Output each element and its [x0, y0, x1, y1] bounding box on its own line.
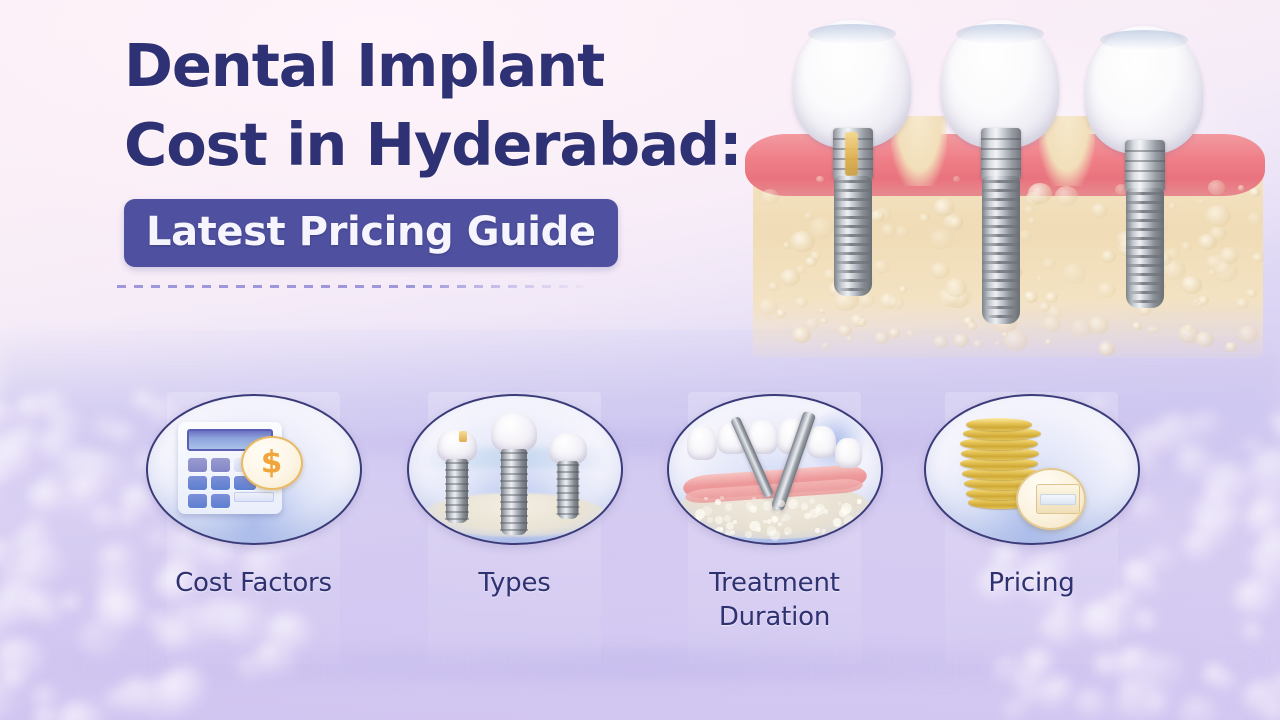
- latest-pricing-guide-badge[interactable]: Latest Pricing Guide: [124, 199, 618, 267]
- icon-bone-pore: [770, 531, 773, 534]
- feature-card-types[interactable]: Types: [428, 392, 601, 664]
- feature-label-types: Types: [428, 567, 601, 601]
- coin-card-face: [1036, 484, 1080, 514]
- icon-bone-pore: [725, 503, 732, 510]
- bone-bubble: [1146, 694, 1169, 713]
- bone-pore: [930, 262, 950, 279]
- icon-bone-pore: [724, 515, 731, 522]
- bone-pore: [949, 217, 963, 229]
- bone-pore: [1070, 319, 1092, 338]
- label-line-2: Duration: [719, 602, 830, 632]
- icon-bone-pore: [750, 521, 761, 532]
- calculator-total-bar: [234, 492, 274, 502]
- bone-bubble: [0, 697, 5, 720]
- dental-tool-teeth-icon: [669, 396, 881, 543]
- bone-pore: [1028, 183, 1052, 203]
- icon-bone-pore: [781, 518, 784, 521]
- bone-pore: [819, 308, 826, 314]
- icon-bone-pore: [809, 498, 815, 504]
- bone-pore: [816, 176, 824, 183]
- dashed-divider: [117, 285, 595, 288]
- mini-gold-inlay: [459, 431, 467, 442]
- bone-pore: [1205, 256, 1220, 269]
- bone-bubble: [31, 685, 60, 709]
- feature-label-treatment-duration: Treatment Duration: [688, 567, 861, 634]
- implant-types-icon: [409, 396, 621, 543]
- feature-label-pricing: Pricing: [945, 567, 1118, 601]
- bone-pore: [953, 334, 968, 347]
- mini-screw: [446, 459, 468, 523]
- calculator-key: [188, 494, 207, 508]
- implant-screw: [1126, 188, 1164, 308]
- bone-bubble: [1118, 681, 1140, 699]
- headline-line-1: Dental Implant: [124, 31, 604, 100]
- bone-bubble: [55, 701, 108, 720]
- bone-pore: [1045, 292, 1058, 303]
- dollar-coin-icon: $: [241, 436, 303, 490]
- bone-pore: [1198, 199, 1204, 204]
- icon-bone-pore: [838, 530, 846, 538]
- bone-pore: [783, 242, 790, 248]
- feature-card-cost-factors[interactable]: $ Cost Factors: [167, 392, 340, 664]
- bone-pore: [1055, 186, 1078, 206]
- bone-pore: [1198, 234, 1217, 250]
- bone-bubble: [33, 707, 60, 720]
- icon-bone-pore: [707, 517, 713, 523]
- bone-pore: [776, 309, 787, 318]
- page-title: Dental Implant Cost in Hyderabad:: [124, 26, 764, 184]
- icon-bone-pore: [848, 533, 853, 538]
- gold-coin: [966, 418, 1032, 431]
- bone-pore: [804, 212, 813, 220]
- icon-bone-pore: [788, 499, 798, 509]
- bone-pore: [870, 210, 884, 222]
- bone-pore: [768, 282, 778, 291]
- bone-pore: [1249, 188, 1260, 197]
- bone-pore: [895, 226, 910, 238]
- bone-pore: [1238, 185, 1245, 191]
- calculator-key: [211, 494, 230, 508]
- icon-tooth: [807, 426, 836, 458]
- icon-bone-pore: [801, 503, 808, 510]
- bone-bubble: [102, 687, 135, 714]
- gold-coins-icon: [960, 418, 1046, 518]
- icon-bone-pore: [858, 513, 863, 518]
- bone-pore: [1198, 296, 1208, 305]
- bone-pore: [1039, 302, 1050, 311]
- bone-pore: [805, 257, 816, 267]
- icon-bone-pore: [844, 515, 855, 526]
- cost-factors-icon-circle[interactable]: $: [146, 394, 362, 545]
- bone-pore: [1045, 339, 1051, 345]
- feature-card-treatment-duration[interactable]: Treatment Duration: [688, 392, 861, 664]
- icon-bone-pore: [809, 509, 818, 518]
- bone-pore: [945, 278, 967, 297]
- feature-row: $ Cost Factors Types: [0, 392, 1280, 682]
- calculator-key: [188, 458, 207, 472]
- treatment-duration-icon-circle[interactable]: [667, 394, 883, 545]
- bone-pore: [1246, 289, 1257, 298]
- bone-bubble: [0, 680, 24, 718]
- badge-label: Latest Pricing Guide: [146, 209, 596, 255]
- mini-screw: [557, 461, 578, 519]
- implant-screw: [834, 176, 872, 296]
- mini-screw: [501, 449, 527, 535]
- icon-bone-pore: [715, 516, 723, 524]
- icon-bone-pore: [763, 501, 772, 510]
- bone-pore: [1181, 276, 1201, 293]
- bone-pore: [1236, 298, 1249, 309]
- icon-bone-pore: [712, 529, 718, 535]
- bone-pore: [1225, 342, 1236, 352]
- bone-pore: [1036, 276, 1043, 282]
- bone-pore: [809, 218, 834, 239]
- calculator-key: [188, 476, 207, 490]
- bone-pore: [994, 341, 1000, 346]
- pricing-icon-circle[interactable]: [924, 394, 1140, 545]
- bone-bubble: [1119, 677, 1172, 720]
- mini-crown: [491, 413, 537, 453]
- label-line-1: Treatment: [709, 568, 840, 598]
- icon-tooth: [687, 426, 717, 460]
- implant-screw: [982, 176, 1020, 324]
- bone-pore: [953, 176, 960, 182]
- icon-bone-pore: [857, 499, 862, 504]
- bone-pore: [1195, 332, 1213, 348]
- bone-bubble: [1002, 699, 1029, 720]
- bone-pore: [761, 189, 780, 205]
- bone-pore: [1028, 217, 1037, 224]
- bone-bubble: [1242, 680, 1280, 715]
- bone-pore: [1220, 247, 1239, 264]
- bone-pore: [1101, 250, 1116, 263]
- feature-label-cost-factors: Cost Factors: [167, 567, 340, 601]
- bone-bubble: [1179, 695, 1222, 720]
- gold-abutment-post: [845, 132, 858, 176]
- dollar-symbol: $: [243, 444, 301, 480]
- coin-card-icon: [1016, 468, 1086, 530]
- bone-pore: [1205, 205, 1231, 227]
- headline-line-2: Cost in Hyderabad:: [124, 105, 764, 184]
- bone-pore: [820, 318, 828, 325]
- bone-pore: [1247, 212, 1263, 226]
- bone-pore: [933, 336, 948, 348]
- types-icon-circle[interactable]: [407, 394, 623, 545]
- bone-pore: [821, 342, 830, 350]
- bone-bubble: [1261, 699, 1280, 720]
- icon-bone-pore: [706, 533, 710, 537]
- bone-bubble: [117, 677, 161, 713]
- implant-abutment: [981, 128, 1021, 180]
- implant-abutment: [1125, 140, 1165, 192]
- icon-bone-pore: [752, 497, 755, 500]
- bone-bubble: [1113, 697, 1136, 716]
- icon-tooth: [835, 438, 862, 468]
- calculator-key: [211, 458, 230, 472]
- bone-pore: [967, 322, 976, 330]
- icon-bone-pore: [720, 496, 723, 499]
- icon-bone-pore: [745, 531, 751, 537]
- implant-crown: [1085, 26, 1203, 154]
- bone-bubble: [1074, 688, 1111, 718]
- bone-pore: [1181, 242, 1192, 251]
- bone-bubble: [1018, 688, 1043, 708]
- calculator-key: [211, 476, 230, 490]
- bone-pore: [889, 328, 900, 337]
- mini-crown: [437, 429, 477, 463]
- dental-implant-illustration: [735, 8, 1280, 358]
- bone-bubble: [139, 676, 192, 719]
- bone-pore: [874, 332, 888, 344]
- bone-pore: [805, 318, 820, 330]
- bone-pore: [1091, 203, 1108, 218]
- bone-pore: [1062, 263, 1086, 283]
- icon-bone-pore: [853, 529, 862, 538]
- bone-bubble: [1036, 680, 1072, 710]
- bone-pore: [796, 265, 806, 273]
- bone-pore: [1024, 205, 1036, 215]
- poster-canvas: Dental Implant Cost in Hyderabad: Latest…: [0, 0, 1280, 720]
- bone-pore: [1252, 253, 1264, 263]
- feature-card-pricing[interactable]: Pricing: [945, 392, 1118, 664]
